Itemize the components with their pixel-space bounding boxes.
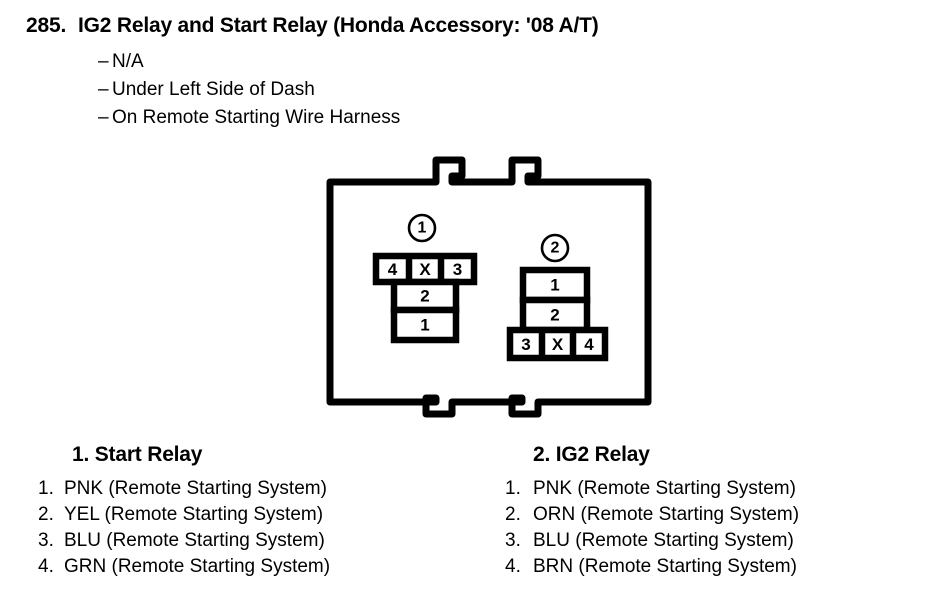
list-item-text: BLU (Remote Starting System) (64, 530, 325, 551)
list-item-index: 4. (38, 554, 64, 580)
list-item-text: GRN (Remote Starting System) (64, 556, 330, 577)
list-item-text: BLU (Remote Starting System) (533, 530, 794, 551)
connector-2-pin-4: 4 (584, 335, 594, 354)
connector-2-pin-1: 1 (550, 276, 559, 295)
connector-1-top-row: 4 X 3 (376, 256, 474, 282)
list-item: 4.BRN (Remote Starting System) (505, 554, 925, 580)
relay-housing-outline (330, 160, 648, 414)
dash-icon: – (98, 76, 112, 104)
list-item-index: 2. (38, 502, 64, 528)
list-item-text: YEL (Remote Starting System) (64, 504, 323, 525)
connector-1-pin-3: 3 (453, 260, 462, 279)
dash-icon: – (98, 48, 112, 76)
list-item-index: 3. (38, 528, 64, 554)
list-item-index: 1. (505, 476, 533, 502)
list-item: 4.GRN (Remote Starting System) (38, 554, 458, 580)
callout-circle-2: 2 (542, 235, 568, 261)
list-item: 3.BLU (Remote Starting System) (38, 528, 458, 554)
connector-2-pin-3: 3 (521, 335, 530, 354)
page-title: 285.IG2 Relay and Start Relay (Honda Acc… (26, 12, 906, 40)
legend-start-relay: 1. Start Relay 1.PNK (Remote Starting Sy… (38, 440, 458, 580)
connector-2-pin-x: X (552, 335, 564, 354)
callout-2-label: 2 (551, 240, 560, 257)
list-item: 1.PNK (Remote Starting System) (505, 476, 925, 502)
bullet-text: On Remote Starting Wire Harness (112, 107, 400, 128)
legend-left-list: 1.PNK (Remote Starting System) 2.YEL (Re… (38, 476, 458, 580)
list-item-text: PNK (Remote Starting System) (64, 478, 327, 499)
bullet-text: Under Left Side of Dash (112, 79, 315, 100)
legend-ig2-relay: 2. IG2 Relay 1.PNK (Remote Starting Syst… (505, 440, 925, 580)
page-title-text: IG2 Relay and Start Relay (Honda Accesso… (78, 14, 599, 37)
relay-diagram: 1 4 X 3 2 1 2 (300, 148, 672, 420)
list-item: 3.BLU (Remote Starting System) (505, 528, 925, 554)
connector-1-pin-4: 4 (388, 260, 398, 279)
connector-2-stack: 1 2 (523, 270, 587, 330)
list-item-index: 1. (38, 476, 64, 502)
list-item-index: 4. (505, 554, 533, 580)
legend-left-heading: 1. Start Relay (38, 440, 458, 470)
connector-1-stack: 2 1 (394, 282, 456, 340)
list-item-text: PNK (Remote Starting System) (533, 478, 796, 499)
connector-1-pin-2: 2 (420, 287, 429, 306)
connector-2-bottom-row: 3 X 4 (510, 330, 605, 358)
connector-1-pin-x: X (419, 260, 431, 279)
connector-1-pin-1: 1 (420, 316, 429, 335)
bullet-item: –Under Left Side of Dash (98, 76, 400, 104)
list-item-text: BRN (Remote Starting System) (533, 556, 797, 577)
list-item-index: 3. (505, 528, 533, 554)
connector-2-pin-2: 2 (550, 306, 559, 325)
list-item: 2.YEL (Remote Starting System) (38, 502, 458, 528)
list-item-text: ORN (Remote Starting System) (533, 504, 799, 525)
page-header: 285.IG2 Relay and Start Relay (Honda Acc… (26, 12, 906, 40)
header-bullet-list: –N/A –Under Left Side of Dash –On Remote… (98, 48, 400, 132)
bullet-item: –N/A (98, 48, 400, 76)
connector-2-group: 2 1 2 3 X 4 (510, 235, 605, 358)
bullet-item: –On Remote Starting Wire Harness (98, 104, 400, 132)
dash-icon: – (98, 104, 112, 132)
bullet-text: N/A (112, 51, 144, 72)
callout-circle-1: 1 (409, 215, 435, 241)
connector-1-group: 1 4 X 3 2 1 (376, 215, 474, 340)
legend-right-list: 1.PNK (Remote Starting System) 2.ORN (Re… (505, 476, 925, 580)
callout-1-label: 1 (418, 220, 427, 237)
list-item: 2.ORN (Remote Starting System) (505, 502, 925, 528)
list-item: 1.PNK (Remote Starting System) (38, 476, 458, 502)
page-title-number: 285. (26, 12, 78, 40)
list-item-index: 2. (505, 502, 533, 528)
legend-right-heading: 2. IG2 Relay (505, 440, 925, 470)
